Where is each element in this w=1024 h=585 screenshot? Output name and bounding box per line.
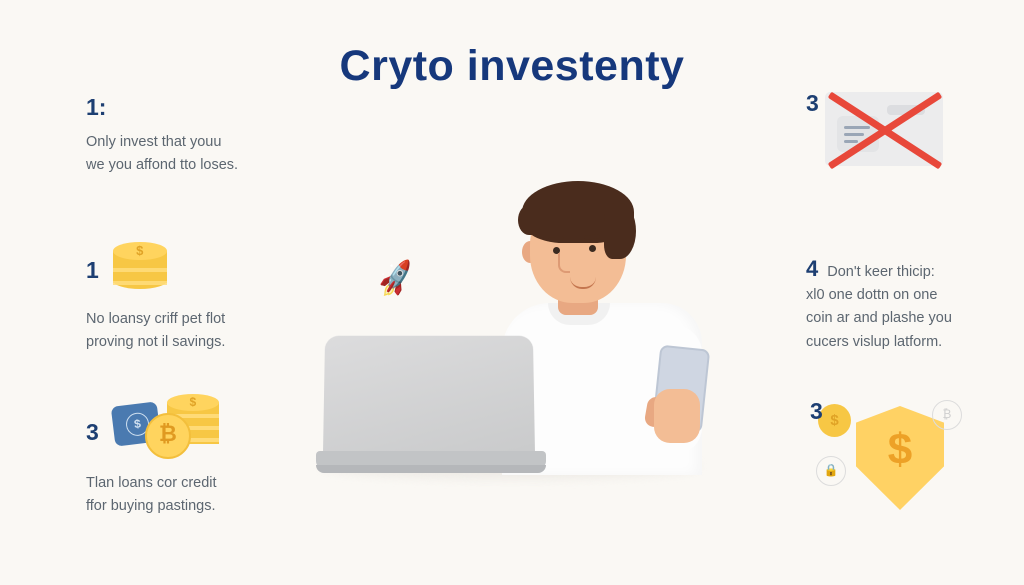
left-block-2-number: 1: [86, 259, 99, 282]
coin-dollar-symbol: $: [113, 243, 167, 258]
right-block-1-number: 3: [806, 92, 819, 115]
laptop-illustration: [316, 335, 546, 480]
right-block-2-text: xl0 one dottn on one coin ar and plashe …: [806, 284, 976, 354]
credit-card-bitcoin-coins-icon: $ $ ₿: [113, 394, 221, 460]
stack-dollar-symbol: $: [167, 395, 219, 409]
small-coin-icon: $: [818, 404, 851, 437]
dollar-shield-icon: $ 3 $ 🔒 ₿: [806, 398, 986, 518]
left-block-3: 3 $ $ ₿ Tlan loans cor credit ffor b: [86, 398, 301, 519]
person-hand-right: [654, 389, 700, 443]
person-hair-side: [604, 203, 636, 259]
crossed-out-card-icon: [825, 92, 943, 166]
left-block-1-number: 1:: [86, 96, 286, 119]
laptop-base-front: [316, 465, 546, 473]
left-block-1: 1: Only invest that youu we you affond t…: [86, 96, 286, 178]
person-eye-right: [589, 245, 596, 252]
left-block-2-text: No loansy criff pet flot proving not il …: [86, 308, 301, 355]
man-with-laptop-illustration: 🚀: [300, 175, 720, 505]
apple-logo-icon: [416, 383, 446, 415]
right-block-1: 3: [806, 92, 996, 166]
person-nose: [558, 253, 570, 273]
right-block-2: 4 Don't keer thicip: xl0 one dottn on on…: [806, 258, 976, 354]
shield-dollar-symbol: $: [856, 428, 944, 472]
lock-icon: 🔒: [816, 456, 846, 486]
rocket-icon: 🚀: [375, 261, 418, 298]
bitcoin-coin-icon: ₿: [145, 413, 191, 459]
right-block-2-number: 4: [806, 258, 818, 280]
left-block-3-number: 3: [86, 421, 99, 444]
person-hair-front: [518, 205, 540, 235]
shield-shape: $: [856, 406, 944, 510]
bitcoin-badge-icon: ₿: [932, 400, 962, 430]
page-title: Cryto investenty: [0, 42, 1024, 91]
left-block-1-text: Only invest that youu we you affond tto …: [86, 131, 286, 178]
left-block-2: 1 $ No loansy criff pet flot proving not…: [86, 236, 301, 355]
infographic-canvas: Cryto investenty 1: Only invest that you…: [0, 0, 1024, 585]
right-block-2-lead: Don't keer thicip:: [827, 264, 935, 280]
coin-stack-icon: $: [113, 242, 167, 298]
left-block-3-text: Tlan loans cor credit ffor buying pastin…: [86, 472, 301, 519]
right-block-3: $ 3 $ 🔒 ₿: [806, 398, 996, 523]
laptop-lid: [323, 336, 535, 458]
right-block-3-number: 3: [810, 398, 823, 425]
